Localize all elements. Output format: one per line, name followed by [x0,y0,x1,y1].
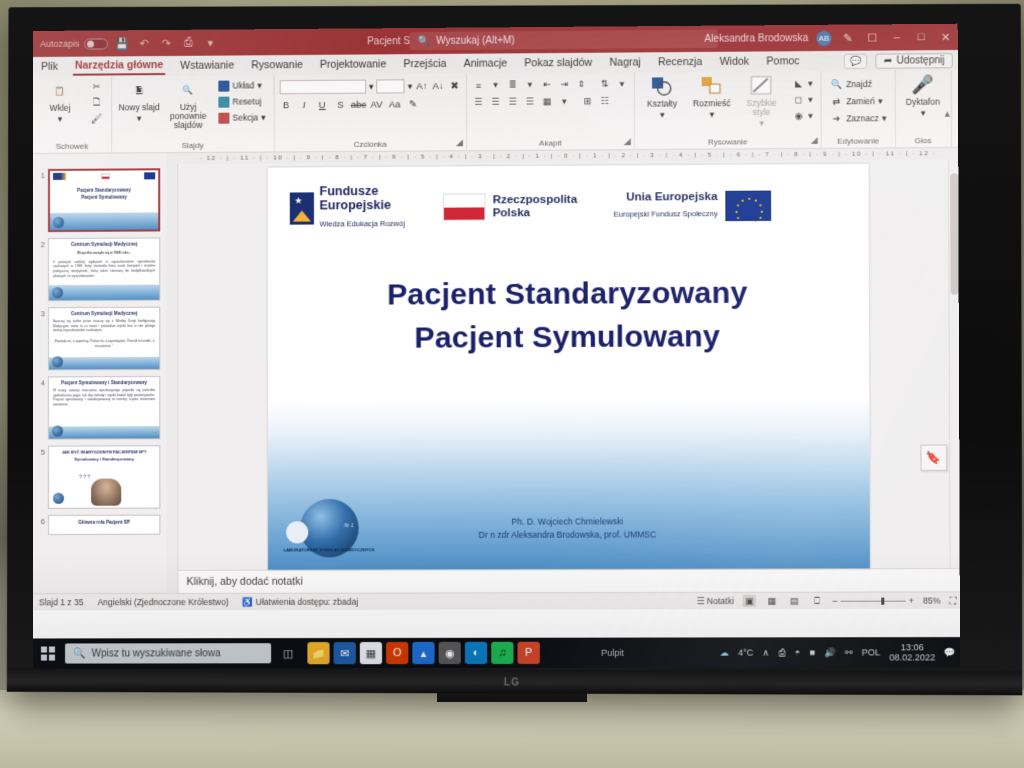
decrease-indent-icon[interactable]: ⇤ [541,78,554,91]
thumbnail-number: 5 [35,446,45,457]
cloud-icon[interactable]: ☁ [720,647,729,658]
list-item[interactable]: 5 JAK BYĆ WIARYGODNYM PACJENTEM SP? Symu… [35,445,164,509]
taskbar-apps: 📁 ✉ ▦ O ▴ ◉ ◐ ♫ P [307,642,539,665]
fe-title-line2: Europejskie [320,199,405,213]
ribbon-group-slajdy: 🖹 Nowy slajd ▾ 🔍 Użyj ponownie slajdów U… [112,75,274,152]
slide-counter[interactable]: Slajd 1 z 35 [39,597,84,607]
chevron-down-icon[interactable]: ▾ [710,110,714,119]
zoom-in-button[interactable]: + [909,596,914,606]
reset-button[interactable]: Resetuj [215,94,268,108]
copy-button[interactable]: 🗋 [87,95,106,109]
new-slide-icon: 🖹 [128,79,150,101]
tab-rysowanie[interactable]: Rysowanie [249,57,305,73]
reading-view-icon[interactable]: ▤ [788,595,801,607]
decrease-font-size-button[interactable]: A↓ [432,79,445,93]
comment-icon[interactable]: 💬 [844,53,868,68]
lab-globe-icon [52,287,63,298]
monitor-bezel: LG [7,668,1022,695]
group-label-czcionka: Czcionka [354,140,387,150]
tab-widok[interactable]: Widok [718,54,752,70]
section-label: Sekcja [232,112,258,122]
group-label-edytowanie: Edytowanie [837,136,879,146]
strikethrough-button[interactable]: abc [352,98,365,112]
slide-logo-bar: Fundusze Europejskie Wiedza Edukacja Roz… [267,164,868,232]
thumbnail-title: Pacjent Symulowany i Standaryzowany [49,380,159,387]
thumbnail-person-image [91,479,121,506]
language-indicator[interactable]: POL [862,647,880,657]
notes-label: Notatki [707,595,734,605]
thumbnail-body: W miarę rozwoju nauczania symulacyjnego … [49,386,159,409]
powerpoint-icon[interactable]: P [518,642,540,664]
increase-indent-icon[interactable]: ⇥ [558,78,571,91]
tab-przejscia[interactable]: Przejścia [401,56,448,72]
shapes-icon [651,75,673,97]
shape-outline-button[interactable]: ◻▾ [789,92,816,106]
undo-icon[interactable]: ↶ [137,36,152,51]
cut-scissors-icon: ✂ [90,80,103,93]
task-view-icon[interactable]: ◫ [277,642,299,664]
font-size-input[interactable] [377,79,405,93]
avatar[interactable]: AB [816,30,831,45]
tab-pomoc[interactable]: Pomoc [764,53,801,69]
share-icon: ➦ [884,55,893,66]
clock[interactable]: 13:06 08.02.2022 [889,642,935,663]
lab-globe-icon [53,217,64,228]
screen: Autozapis 💾 ↶ ↷ ⎙ ▾ Pacjent S... ▾ 🔍 Wys… [33,24,960,669]
search-icon: 🔍 [418,35,431,46]
bluetooth-icon[interactable]: ⚯ [845,647,853,658]
slide-authors[interactable]: Ph. D. Wojciech Chmielewski Dr n zdr Ale… [267,514,869,543]
shape-effects-button[interactable]: ◉▾ [789,109,816,123]
bullet-list-icon[interactable]: ≡ [472,79,485,92]
tab-nagraj[interactable]: Nagraj [607,54,642,70]
tab-projektowanie[interactable]: Projektowanie [318,56,388,73]
eu-flag-icon [726,190,772,221]
chevron-down-icon[interactable]: ▾ [808,78,812,89]
thumbnail-title: Główna rola Pacjent SP [49,520,159,527]
arrange-button[interactable]: Rozmieść ▾ [689,75,734,119]
thumbnail-subtitle: Symulowany i Standaryzowany [49,457,159,463]
paste-button[interactable]: 📋 Wklej ▾ [38,80,82,124]
reuse-slides-label: Użyj ponownie slajdów [166,103,210,130]
unia-europejska-logo: Unia Europejska Europejski Fundusz Społe… [614,190,772,221]
vertical-scrollbar[interactable] [948,159,960,568]
work-area: 1 Pacjent Standaryzowany Pacjent Symulow… [33,159,960,593]
section-button[interactable]: Sekcja ▾ [215,110,268,124]
ribbon-group-schowek: 📋 Wklej ▾ ✂ 🗋 🖌 Schowek [33,76,112,153]
pen-icon[interactable]: ✎ [840,30,856,46]
shape-effects-icon: ◉ [792,109,805,122]
thumbnail-number: 3 [35,307,45,318]
fundusze-logo-icon [53,173,66,180]
new-slide-label: Nowy slajd [119,103,160,112]
rzeczpospolita-polska-logo: Rzeczpospolita Polska [443,193,577,221]
poland-flag-icon [443,194,485,221]
volume-icon[interactable]: 🔊 [824,647,835,658]
thumbnail-subtitle: Pacjent Symulowany [50,195,158,202]
bookmark-icon[interactable]: 🔖 [920,444,947,470]
chevron-down-icon[interactable]: ▾ [369,81,374,92]
thumbnail-number: 6 [35,515,45,526]
group-label-schowek: Schowek [56,142,89,152]
fill-bucket-icon: ◣ [792,77,805,90]
pl-line2: Polska [493,207,578,221]
lab-logo-text: LABORATORIUM SYMULACJI MEDYCZNYCH [284,548,375,554]
new-slide-button[interactable]: 🖹 Nowy slajd ▾ [117,79,161,123]
zoom-out-button[interactable]: – [833,596,838,606]
scrollbar-thumb[interactable] [950,173,959,294]
autosave-switch[interactable] [84,38,108,49]
vertical-ruler [166,164,178,593]
monitor-brand-logo: LG [504,677,520,688]
pl-line1: Rzeczpospolita [493,193,578,207]
chevron-down-icon[interactable]: ▾ [882,113,886,124]
eu-subtitle: Europejski Fundusz Społeczny [614,209,718,219]
start-presentation-icon[interactable]: ⎙ [181,35,196,50]
notification-icon[interactable]: 💬 [944,647,956,658]
list-item[interactable]: 4 Pacjent Symulowany i Standaryzowany W … [35,376,164,440]
wifi-icon[interactable]: ◓ [795,647,801,657]
chevron-down-icon[interactable]: ▾ [615,78,628,91]
thumbnail-title: Pacjent Standaryzowany [50,187,158,194]
underline-button[interactable]: U [316,98,329,112]
share-button[interactable]: ➦ Udostępnij [876,53,953,69]
chevron-down-icon[interactable]: ▾ [921,109,925,118]
search-placeholder: Wyszukaj (Alt+M) [436,35,515,47]
thumbnail-question-marks: ? ? ? [79,475,90,481]
accessibility-label: Ułatwienia dostępu: zbadaj [256,596,358,606]
list-item[interactable]: 1 Pacjent Standaryzowany Pacjent Symulow… [35,168,164,232]
poland-flag-icon [101,173,110,179]
blue-arrow-icon[interactable]: ▴ [412,642,434,664]
reset-label: Resetuj [232,96,261,106]
copy-icon: 🗋 [90,96,103,109]
chevron-down-icon[interactable]: ▾ [408,81,413,92]
language-indicator[interactable]: Angielski (Zjednoczone Królestwo) [98,597,229,607]
line-spacing-icon[interactable]: ⇕ [575,78,588,91]
system-tray: ☁ 4°C ∧ ⎙ ◓ ■ 🔊 ⚯ POL 13:06 08.02.2022 💬 [720,642,956,663]
shapes-button[interactable]: Kształty ▾ [640,75,685,119]
chevron-down-icon[interactable]: ▾ [58,115,62,124]
thumbnail-body: Nauczaj się siebie przez nauczy się z Wi… [49,317,159,336]
thumbnail-number: 4 [35,376,45,387]
tab-animacje[interactable]: Animacje [462,55,510,71]
notes-pane[interactable]: Kliknij, aby dodać notatki [178,568,959,593]
fe-subtitle: Wiedza Edukacja Rozwój [320,218,405,228]
align-right-icon[interactable]: ☰ [506,96,519,109]
ribbon-group-czcionka: ▾ ▾ A↑ A↓ ✖ B I U S abc AV Aa ✎ [274,74,467,152]
search-icon: 🔍 [830,78,843,91]
normal-view-icon[interactable]: ▣ [743,595,756,607]
slide-canvas: Fundusze Europejskie Wiedza Edukacja Roz… [178,159,960,593]
thumbnail-slide-4[interactable]: Pacjent Symulowany i Standaryzowany W mi… [48,376,160,440]
notes-button[interactable]: ☰ Notatki [697,595,734,606]
replace-button[interactable]: ⇄ Zamień ▾ [827,94,886,109]
find-button[interactable]: 🔍 Znajdź [827,77,875,91]
fe-title-line1: Fundusze [319,185,404,199]
slide-title-line2: Pacjent Symulowany [267,314,868,361]
eu-title: Unia Europejska [614,191,718,204]
bold-button[interactable]: B [279,98,292,112]
close-button[interactable]: ✕ [937,29,953,45]
replace-label: Zamień [846,96,875,106]
edge-icon[interactable]: ◐ [465,642,487,664]
dialog-launcher-icon[interactable]: ◢ [811,135,818,146]
group-label-rysowanie: Rysowanie [708,137,748,147]
smartart-icon[interactable]: ☷ [598,95,611,108]
file-explorer-icon[interactable]: 📁 [307,642,329,664]
reuse-slides-button[interactable]: 🔍 Użyj ponownie slajdów [166,79,210,130]
find-label: Znajdź [846,79,872,89]
thumbnail-slide-3[interactable]: Centrum Symulacji Medycznej Nauczaj się … [48,307,160,371]
author-2: Dr n zdr Aleksandra Brodowska, prof. UMM… [267,528,869,543]
slide-title-line1: Pacjent Standaryzowany [267,270,868,317]
reset-icon [218,96,229,107]
numbered-list-icon[interactable]: ≣ [506,78,519,91]
thumbnail-quote: „Powiedz mi, a zapomnę. Pokaż mi, a zapa… [49,335,159,351]
taskbar-search-input[interactable]: 🔍 Wpisz tu wyszukiwane słowa [65,643,271,663]
chevron-down-icon[interactable]: ▾ [808,110,812,121]
windows-start-icon[interactable] [33,638,63,668]
group-label-akapit: Akapit [539,139,562,149]
cut-button[interactable]: ✂ [87,79,106,93]
select-label: Zaznacz [846,113,879,123]
shape-fill-button[interactable]: ◣▾ [789,76,816,90]
microsoft-store-icon[interactable]: ▦ [360,642,382,664]
shape-outline-icon: ◻ [792,93,805,106]
lab-globe-icon [53,493,64,504]
lab-globe-icon [52,426,63,437]
slide-sorter-icon[interactable]: ▦ [765,595,778,607]
dictate-button[interactable]: 🎤 Dyktafon ▾ [900,73,945,118]
current-slide[interactable]: Fundusze Europejskie Wiedza Edukacja Roz… [267,164,869,570]
chevron-down-icon[interactable]: ▾ [660,111,664,120]
notes-placeholder: Kliknij, aby dodać notatki [187,576,303,588]
quick-styles-label: Szybkie style [739,99,784,117]
ribbon-group-rysowanie: Kształty ▾ Rozmieść ▾ Szybkie style ▾ [635,71,822,149]
tab-wstawianie[interactable]: Wstawianie [178,57,236,73]
collapse-ribbon-button[interactable]: ▲ [943,109,952,119]
show-desktop-label[interactable]: Pulpit [601,648,624,658]
font-color-button[interactable]: ✎ [406,97,419,111]
layout-icon [218,80,229,91]
spotify-icon[interactable]: ♫ [491,642,513,664]
ribbon: 📋 Wklej ▾ ✂ 🗋 🖌 Schowek 🖹 Nowy slajd ▾ [33,70,958,154]
format-painter-icon: 🖌 [90,112,103,125]
layout-button[interactable]: Układ ▾ [215,78,268,92]
clock-date: 08.02.2022 [889,652,935,663]
replace-icon: ⇄ [830,95,843,108]
autosave-toggle[interactable]: Autozapis [40,38,108,50]
arrange-label: Rozmieść [693,99,731,108]
align-text-icon[interactable]: ⊞ [581,95,594,108]
dictate-label: Dyktafon [906,98,940,107]
list-item[interactable]: 6 Główna rola Pacjent SP [35,515,164,535]
user-name: Aleksandra Brodowska [704,32,808,44]
thumbnail-slide-1[interactable]: Pacjent Standaryzowany Pacjent Symulowan… [48,168,160,232]
zoom-level[interactable]: 85% [923,596,940,606]
lab-globe-icon [52,356,63,367]
list-item[interactable]: 3 Centrum Symulacji Medycznej Nauczaj si… [35,307,164,371]
redo-icon[interactable]: ↷ [159,35,174,50]
ribbon-group-edytowanie: 🔍 Znajdź ⇄ Zamień ▾ ➜ Zaznacz ▾ Edytowan… [822,71,896,148]
mail-icon[interactable]: ✉ [334,642,356,664]
shadow-button[interactable]: S [334,98,347,112]
dialog-launcher-icon[interactable]: ◢ [624,136,631,147]
chevron-down-icon[interactable]: ▾ [203,35,218,50]
group-label-glos: Głos [915,136,932,146]
share-label: Udostępnij [896,55,944,66]
quick-styles-icon [750,75,772,97]
weather-temp[interactable]: 4°C [738,648,753,658]
layout-label: Układ [232,80,254,90]
slide-title[interactable]: Pacjent Standaryzowany Pacjent Symulowan… [267,270,868,361]
text-direction-icon[interactable]: ⇅ [598,78,611,91]
chevron-up-icon[interactable]: ∧ [762,647,769,658]
chevron-down-icon[interactable]: ▾ [523,78,536,91]
zoom-slider-thumb[interactable] [881,597,884,604]
font-name-input[interactable] [279,80,366,95]
tab-plik[interactable]: Plik [39,59,60,75]
thumbnail-title: JAK BYĆ WIARYGODNYM PACJENTEM SP? [49,449,159,455]
battery-icon[interactable]: ■ [810,647,816,657]
thumbnail-slide-6[interactable]: Główna rola Pacjent SP [48,515,160,535]
section-icon [218,112,229,123]
notes-icon: ☰ [697,595,705,605]
search-input[interactable]: 🔍 Wyszukaj (Alt+M) [409,30,717,50]
align-center-icon[interactable]: ☰ [489,96,502,109]
fundusze-mark-icon [289,192,313,224]
clock-time: 13:06 [889,642,935,653]
taskbar-search-placeholder: Wpisz tu wyszukiwane słowa [92,648,221,659]
maximize-button[interactable]: □ [913,29,929,45]
thumbnail-slide-5[interactable]: JAK BYĆ WIARYGODNYM PACJENTEM SP? Symulo… [48,445,160,509]
usb-device-icon[interactable]: ⎙ [778,647,785,658]
camera-icon[interactable]: ◉ [439,642,461,664]
status-bar: Slajd 1 z 35 Angielski (Zjednoczone Król… [33,591,960,610]
columns-icon[interactable]: ▦ [541,95,554,108]
arrange-icon [701,75,723,97]
italic-button[interactable]: I [298,98,311,112]
microphone-icon: 🎤 [912,73,934,95]
tab-recenzja[interactable]: Recenzja [656,54,704,70]
paste-icon: 📋 [49,80,71,102]
chevron-down-icon[interactable]: ▾ [808,94,812,105]
chevron-down-icon[interactable]: ▾ [137,114,141,123]
slideshow-icon[interactable]: ⎕ [810,595,823,607]
increase-font-size-button[interactable]: A↑ [415,79,428,93]
chevron-down-icon[interactable]: ▾ [878,95,882,106]
chevron-down-icon[interactable]: ▾ [759,119,763,128]
accessibility-icon: ♿ [243,596,254,606]
quick-styles-button[interactable]: Szybkie style ▾ [739,74,784,128]
reuse-slides-icon: 🔍 [177,79,199,101]
thumbnail-number: 2 [35,238,45,249]
clear-formatting-icon[interactable]: ✖ [448,79,461,93]
select-cursor-icon: ➜ [830,112,843,125]
thumbnail-body: Z pewnych wielkiej wydarzeń w wyszukiwan… [49,257,159,280]
shapes-label: Kształty [647,99,677,108]
fit-to-window-icon[interactable]: ⛶ [950,595,956,606]
select-button[interactable]: ➜ Zaznacz ▾ [827,111,890,126]
group-label-slajdy: Slajdy [182,141,204,151]
tab-narzedzia-glowne[interactable]: Narzędzia główne [73,57,165,76]
justify-icon[interactable]: ☰ [523,95,536,108]
change-case-button[interactable]: Aa [388,97,401,111]
thumbnail-slide-2[interactable]: Centrum Symulacji Medycznej Wszystko zac… [48,237,160,301]
minimize-button[interactable]: – [888,29,904,45]
list-item[interactable]: 2 Centrum Symulacji Medycznej Wszystko z… [35,237,164,301]
dialog-launcher-icon[interactable]: ◢ [456,137,463,148]
tab-pokaz-slajdow[interactable]: Pokaz slajdów [522,55,594,72]
format-painter-button[interactable]: 🖌 [87,112,106,126]
accessibility-status[interactable]: ♿ Ułatwienia dostępu: zbadaj [243,596,358,607]
thumbnail-number: 1 [35,169,45,180]
slide-thumbnails-panel[interactable]: 1 Pacjent Standaryzowany Pacjent Symulow… [33,164,166,593]
chevron-down-icon[interactable]: ▾ [489,79,502,92]
autosave-label: Autozapis [40,39,80,49]
paste-label: Wklej [50,104,71,113]
eu-flag-icon [144,172,155,179]
office-icon[interactable]: O [386,642,408,664]
zoom-slider[interactable]: – + [833,596,914,606]
ribbon-display-options-icon[interactable]: ☐ [864,29,880,45]
save-icon[interactable]: 💾 [115,36,130,51]
search-icon: 🔍 [73,648,85,659]
chevron-down-icon[interactable]: ▾ [257,80,261,91]
character-spacing-button[interactable]: AV [370,98,383,112]
ribbon-group-akapit: ≡ ▾ ≣ ▾ ⇤ ⇥ ⇕ ⇅ ▾ ☰ ☰ ☰ ☰ ▦ ▾ ⊞ [467,73,635,151]
chevron-down-icon[interactable]: ▾ [558,95,571,108]
windows-taskbar: 🔍 Wpisz tu wyszukiwane słowa ◫ 📁 ✉ ▦ O ▴… [33,637,960,669]
chevron-down-icon[interactable]: ▾ [261,112,265,123]
fundusze-europejskie-logo: Fundusze Europejskie Wiedza Edukacja Roz… [289,185,405,231]
align-left-icon[interactable]: ☰ [472,96,485,109]
thumbnail-subtitle: Wszystko zaczęło się w 1968 roku... [49,248,159,258]
